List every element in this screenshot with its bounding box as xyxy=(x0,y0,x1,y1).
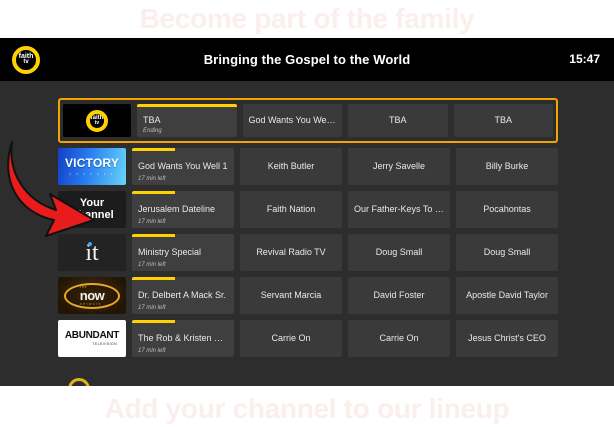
program-cell[interactable]: Jerusalem Dateline17 min left xyxy=(132,191,234,228)
program-cell[interactable]: David Foster xyxy=(348,277,450,314)
program-title: Jerry Savelle xyxy=(354,162,444,172)
program-time-left: 17 min left xyxy=(138,219,166,225)
program-cell[interactable]: Faith Nation xyxy=(240,191,342,228)
program-title: God Wants You Well 1 xyxy=(138,162,228,172)
program-progress-bar xyxy=(132,277,175,280)
channel-logo-text: it xyxy=(85,241,98,265)
program-title: Our Father-Keys To The Lords... xyxy=(354,205,444,215)
faith-tv-ring-icon: faithtv xyxy=(86,110,108,132)
program-cells: Jerusalem Dateline17 min leftFaith Natio… xyxy=(132,191,558,228)
program-cell[interactable]: Jesus Christ's CEO xyxy=(456,320,558,357)
program-progress-bar xyxy=(132,234,175,237)
program-cell[interactable]: The Rob & Kristen Show17 min left xyxy=(132,320,234,357)
page-root: Become part of the family faith tv Bring… xyxy=(0,0,614,427)
program-cell[interactable]: Carrie On xyxy=(348,320,450,357)
guide-row-the-now-network[interactable]: thenownetworkDr. Delbert A Mack Sr.17 mi… xyxy=(58,277,558,314)
channel-logo-line-1: Your xyxy=(80,198,104,210)
channel-logo-text: VICTORY xyxy=(65,157,119,169)
program-title: Doug Small xyxy=(354,248,444,258)
program-title: Apostle David Taylor xyxy=(462,291,552,301)
program-title: The Rob & Kristen Show xyxy=(138,334,228,344)
now-logo-oval-icon: thenownetwork xyxy=(64,283,120,309)
program-cells: Ministry Special17 min leftRevival Radio… xyxy=(132,234,558,271)
channel-logo-text: now xyxy=(80,289,105,302)
program-cell[interactable]: Pocahontas xyxy=(456,191,558,228)
program-time-left: 17 min left xyxy=(138,305,166,311)
program-cell[interactable]: Doug Small xyxy=(348,234,450,271)
program-title: Servant Marcia xyxy=(246,291,336,301)
program-title: Jesus Christ's CEO xyxy=(462,334,552,344)
channel-logo-faith-tv[interactable]: faithtv xyxy=(63,104,131,137)
program-cell[interactable]: TBA xyxy=(454,104,554,137)
program-cell[interactable]: Our Father-Keys To The Lords... xyxy=(348,191,450,228)
program-title: Billy Burke xyxy=(462,162,552,172)
program-cell[interactable]: God Wants You Well 117 min left xyxy=(132,148,234,185)
program-cells: The Rob & Kristen Show17 min leftCarrie … xyxy=(132,320,558,357)
program-cell[interactable]: Jerry Savelle xyxy=(348,148,450,185)
program-cell[interactable]: Billy Burke xyxy=(456,148,558,185)
program-cell[interactable]: Servant Marcia xyxy=(240,277,342,314)
channel-logo-subtext: network xyxy=(80,302,105,306)
program-time-left: 17 min left xyxy=(138,262,166,268)
program-title: God Wants You Well 1 xyxy=(249,116,337,126)
program-title: Carrie On xyxy=(246,334,336,344)
program-title: Keith Butler xyxy=(246,162,336,172)
guide-row-victory[interactable]: VICTORY• • • • • • •God Wants You Well 1… xyxy=(58,148,558,185)
partial-channel-logo-icon xyxy=(68,378,90,386)
program-title: Carrie On xyxy=(354,334,444,344)
channel-logo-it-network[interactable]: it xyxy=(58,234,126,271)
program-title: Jerusalem Dateline xyxy=(138,205,228,215)
channel-logo-text: ABUNDANT xyxy=(65,331,119,341)
top-bar: faith tv Bringing the Gospel to the Worl… xyxy=(0,38,614,81)
epg-panel: faith tv Bringing the Gospel to the Worl… xyxy=(0,38,614,386)
channel-logo-abundant-television[interactable]: ABUNDANTTELEVISION xyxy=(58,320,126,357)
program-time-left: 17 min left xyxy=(138,176,166,182)
program-title: Faith Nation xyxy=(246,205,336,215)
program-cells: God Wants You Well 117 min leftKeith But… xyxy=(132,148,558,185)
program-cell[interactable]: Apostle David Taylor xyxy=(456,277,558,314)
program-title: David Foster xyxy=(354,291,444,301)
program-cell[interactable]: God Wants You Well 1 xyxy=(243,104,343,137)
program-cell[interactable]: Dr. Delbert A Mack Sr.17 min left xyxy=(132,277,234,314)
channel-logo-subtext: • • • • • • • xyxy=(69,171,114,176)
program-title: TBA xyxy=(354,116,442,126)
channel-logo-your-channel[interactable]: YourChannel xyxy=(58,191,126,228)
channel-logo-line-2: Channel xyxy=(70,210,113,222)
bottom-headline: Add your channel to our lineup xyxy=(0,393,614,425)
program-cell[interactable]: Ministry Special17 min left xyxy=(132,234,234,271)
channel-logo-the-now-network[interactable]: thenownetwork xyxy=(58,277,126,314)
program-progress-bar xyxy=(132,320,175,323)
channel-logo-subtext: TELEVISION xyxy=(92,342,117,346)
program-title: Dr. Delbert A Mack Sr. xyxy=(138,291,228,301)
page-title: Bringing the Gospel to the World xyxy=(0,38,614,81)
program-cell[interactable]: Keith Butler xyxy=(240,148,342,185)
guide-row-abundant-television[interactable]: ABUNDANTTELEVISIONThe Rob & Kristen Show… xyxy=(58,320,558,357)
program-cell[interactable]: Revival Radio TV xyxy=(240,234,342,271)
program-progress-bar xyxy=(132,148,175,151)
program-cells: Dr. Delbert A Mack Sr.17 min leftServant… xyxy=(132,277,558,314)
program-time-left: 17 min left xyxy=(138,348,166,354)
guide-row-your-channel[interactable]: YourChannelJerusalem Dateline17 min left… xyxy=(58,191,558,228)
program-title: Ministry Special xyxy=(138,248,228,258)
program-progress-bar xyxy=(137,104,237,107)
program-title: TBA xyxy=(143,116,231,126)
clock: 15:47 xyxy=(569,38,600,81)
channel-logo-victory[interactable]: VICTORY• • • • • • • xyxy=(58,148,126,185)
program-cell[interactable]: TBAEnding xyxy=(137,104,237,137)
it-logo-dot-icon xyxy=(88,242,92,246)
program-cells: TBAEndingGod Wants You Well 1TBATBA xyxy=(137,104,553,137)
program-progress-bar xyxy=(132,191,175,194)
guide-row-faith-tv[interactable]: faithtvTBAEndingGod Wants You Well 1TBAT… xyxy=(58,98,558,143)
guide-row-it-network[interactable]: itMinistry Special17 min leftRevival Rad… xyxy=(58,234,558,271)
program-time-left: Ending xyxy=(143,128,162,134)
program-title: TBA xyxy=(460,116,548,126)
program-cell[interactable]: Doug Small xyxy=(456,234,558,271)
top-headline: Become part of the family xyxy=(0,3,614,35)
logo-line-2: tv xyxy=(95,121,99,125)
program-title: Doug Small xyxy=(462,248,552,258)
program-cell[interactable]: Carrie On xyxy=(240,320,342,357)
program-guide-grid: faithtvTBAEndingGod Wants You Well 1TBAT… xyxy=(58,98,558,363)
program-cell[interactable]: TBA xyxy=(348,104,448,137)
program-title: Revival Radio TV xyxy=(246,248,336,258)
program-title: Pocahontas xyxy=(462,205,552,215)
